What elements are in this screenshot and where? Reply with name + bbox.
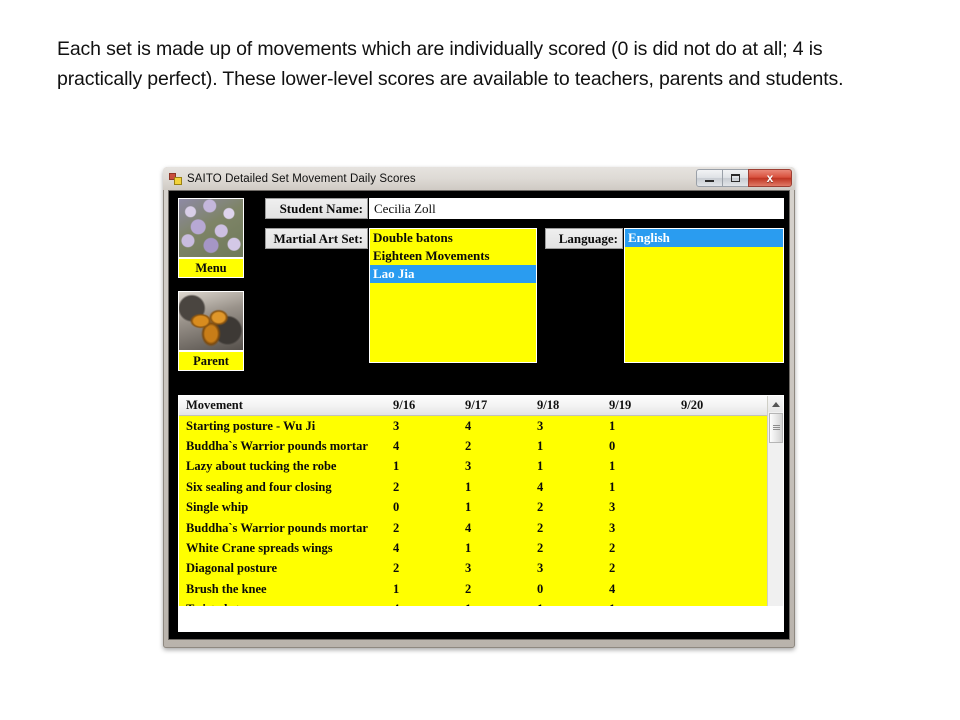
score-cell[interactable]: 1 xyxy=(462,477,534,497)
score-cell[interactable]: 1 xyxy=(390,457,462,477)
score-cell[interactable]: 1 xyxy=(606,457,678,477)
score-cell[interactable]: 2 xyxy=(462,436,534,456)
score-cell[interactable] xyxy=(678,477,750,497)
close-icon: x xyxy=(767,172,774,184)
movement-name-cell: White Crane spreads wings xyxy=(179,538,390,558)
score-cell[interactable]: 4 xyxy=(462,416,534,436)
score-cell[interactable] xyxy=(678,498,750,518)
application-window: SAITO Detailed Set Movement Daily Scores… xyxy=(163,167,795,648)
student-name-input[interactable]: Cecilia Zoll xyxy=(369,198,784,219)
score-cell[interactable]: 1 xyxy=(462,498,534,518)
score-cell[interactable]: 1 xyxy=(606,477,678,497)
score-cell[interactable]: 0 xyxy=(390,498,462,518)
score-cell[interactable]: 2 xyxy=(534,538,606,558)
maximize-icon xyxy=(731,174,740,182)
score-cell[interactable]: 3 xyxy=(606,498,678,518)
grid-body: Starting posture - Wu Ji3431Buddha`s War… xyxy=(179,416,783,620)
grid-header-date[interactable]: 9/16 xyxy=(390,396,462,415)
martial-art-set-listbox[interactable]: Double batonsEighteen MovementsLao Jia xyxy=(369,228,537,363)
score-cell[interactable]: 3 xyxy=(534,559,606,579)
martial-art-set-option[interactable]: Lao Jia xyxy=(370,265,536,283)
language-listbox[interactable]: English xyxy=(624,228,784,363)
score-cell[interactable]: 1 xyxy=(606,416,678,436)
score-cell[interactable]: 2 xyxy=(606,559,678,579)
martial-art-set-option[interactable]: Eighteen Movements xyxy=(370,247,536,265)
score-cell[interactable]: 1 xyxy=(534,457,606,477)
scores-grid: Movement9/169/179/189/199/20 Starting po… xyxy=(178,395,784,623)
score-cell[interactable]: 0 xyxy=(534,579,606,599)
table-row[interactable]: Diagonal posture2332 xyxy=(179,559,783,579)
score-cell[interactable] xyxy=(678,559,750,579)
table-row[interactable]: Starting posture - Wu Ji3431 xyxy=(179,416,783,436)
score-cell[interactable]: 4 xyxy=(462,518,534,538)
menu-button[interactable]: Menu xyxy=(178,258,244,278)
score-cell[interactable]: 1 xyxy=(462,538,534,558)
movement-name-cell: Single whip xyxy=(179,498,390,518)
movement-name-cell: Brush the knee xyxy=(179,579,390,599)
score-cell[interactable] xyxy=(678,518,750,538)
score-cell[interactable]: 3 xyxy=(462,559,534,579)
score-cell[interactable]: 1 xyxy=(534,436,606,456)
score-cell[interactable]: 2 xyxy=(390,477,462,497)
grid-header-date[interactable]: 9/18 xyxy=(534,396,606,415)
movement-name-cell: Buddha`s Warrior pounds mortar xyxy=(179,518,390,538)
score-cell[interactable] xyxy=(678,416,750,436)
score-cell[interactable]: 3 xyxy=(390,416,462,436)
table-row[interactable]: White Crane spreads wings4122 xyxy=(179,538,783,558)
martial-art-set-option[interactable]: Double batons xyxy=(370,229,536,247)
score-cell[interactable]: 2 xyxy=(606,538,678,558)
score-cell[interactable]: 2 xyxy=(462,579,534,599)
movement-name-cell: Starting posture - Wu Ji xyxy=(179,416,390,436)
score-cell[interactable]: 3 xyxy=(606,518,678,538)
table-row[interactable]: Single whip0123 xyxy=(179,498,783,518)
scrollbar-thumb[interactable] xyxy=(769,413,783,443)
score-cell[interactable]: 2 xyxy=(390,518,462,538)
parent-thumbnail-image[interactable] xyxy=(178,291,244,351)
score-cell[interactable]: 4 xyxy=(390,436,462,456)
table-row[interactable]: Buddha`s Warrior pounds mortar2423 xyxy=(179,518,783,538)
grid-header-date[interactable]: 9/20 xyxy=(678,396,750,415)
score-cell[interactable]: 0 xyxy=(606,436,678,456)
language-option[interactable]: English xyxy=(625,229,783,247)
minimize-icon xyxy=(705,180,714,182)
status-bar xyxy=(178,606,784,632)
grid-header-movement[interactable]: Movement xyxy=(179,396,390,415)
score-cell[interactable] xyxy=(678,436,750,456)
language-label: Language: xyxy=(545,228,623,249)
score-cell[interactable] xyxy=(678,538,750,558)
grid-header-date[interactable]: 9/17 xyxy=(462,396,534,415)
score-cell[interactable]: 4 xyxy=(534,477,606,497)
title-bar[interactable]: SAITO Detailed Set Movement Daily Scores… xyxy=(163,167,795,190)
chevron-up-icon xyxy=(772,402,780,407)
student-name-label: Student Name: xyxy=(265,198,368,219)
window-controls: x xyxy=(697,168,792,187)
score-cell[interactable] xyxy=(678,457,750,477)
movement-name-cell: Diagonal posture xyxy=(179,559,390,579)
movement-name-cell: Buddha`s Warrior pounds mortar xyxy=(179,436,390,456)
menu-thumbnail-image[interactable] xyxy=(178,198,244,258)
maximize-button[interactable] xyxy=(722,169,749,187)
martial-art-set-label: Martial Art Set: xyxy=(265,228,368,249)
table-row[interactable]: Buddha`s Warrior pounds mortar4210 xyxy=(179,436,783,456)
slide-caption: Each set is made up of movements which a… xyxy=(57,34,902,94)
parent-button[interactable]: Parent xyxy=(178,351,244,371)
grid-vertical-scrollbar[interactable] xyxy=(767,396,783,622)
grid-header-row: Movement9/169/179/189/199/20 xyxy=(179,396,783,416)
close-button[interactable]: x xyxy=(748,169,792,187)
table-row[interactable]: Brush the knee1204 xyxy=(179,579,783,599)
window-title: SAITO Detailed Set Movement Daily Scores xyxy=(187,173,416,185)
app-icon xyxy=(169,172,182,185)
score-cell[interactable]: 2 xyxy=(534,498,606,518)
minimize-button[interactable] xyxy=(696,169,723,187)
movement-name-cell: Lazy about tucking the robe xyxy=(179,457,390,477)
scroll-up-button[interactable] xyxy=(768,396,784,412)
score-cell[interactable]: 2 xyxy=(534,518,606,538)
table-row[interactable]: Lazy about tucking the robe1311 xyxy=(179,457,783,477)
grip-icon xyxy=(773,425,780,431)
score-cell[interactable]: 4 xyxy=(390,538,462,558)
grid-header-date[interactable]: 9/19 xyxy=(606,396,678,415)
client-area: Menu Parent Student Name: Cecilia Zoll M… xyxy=(168,190,790,640)
movement-name-cell: Six sealing and four closing xyxy=(179,477,390,497)
score-cell[interactable]: 1 xyxy=(390,579,462,599)
score-cell[interactable]: 3 xyxy=(534,416,606,436)
score-cell[interactable]: 2 xyxy=(390,559,462,579)
score-cell[interactable]: 4 xyxy=(606,579,678,599)
score-cell[interactable]: 3 xyxy=(462,457,534,477)
score-cell[interactable] xyxy=(678,579,750,599)
table-row[interactable]: Six sealing and four closing2141 xyxy=(179,477,783,497)
left-rail: Menu Parent xyxy=(178,198,244,384)
